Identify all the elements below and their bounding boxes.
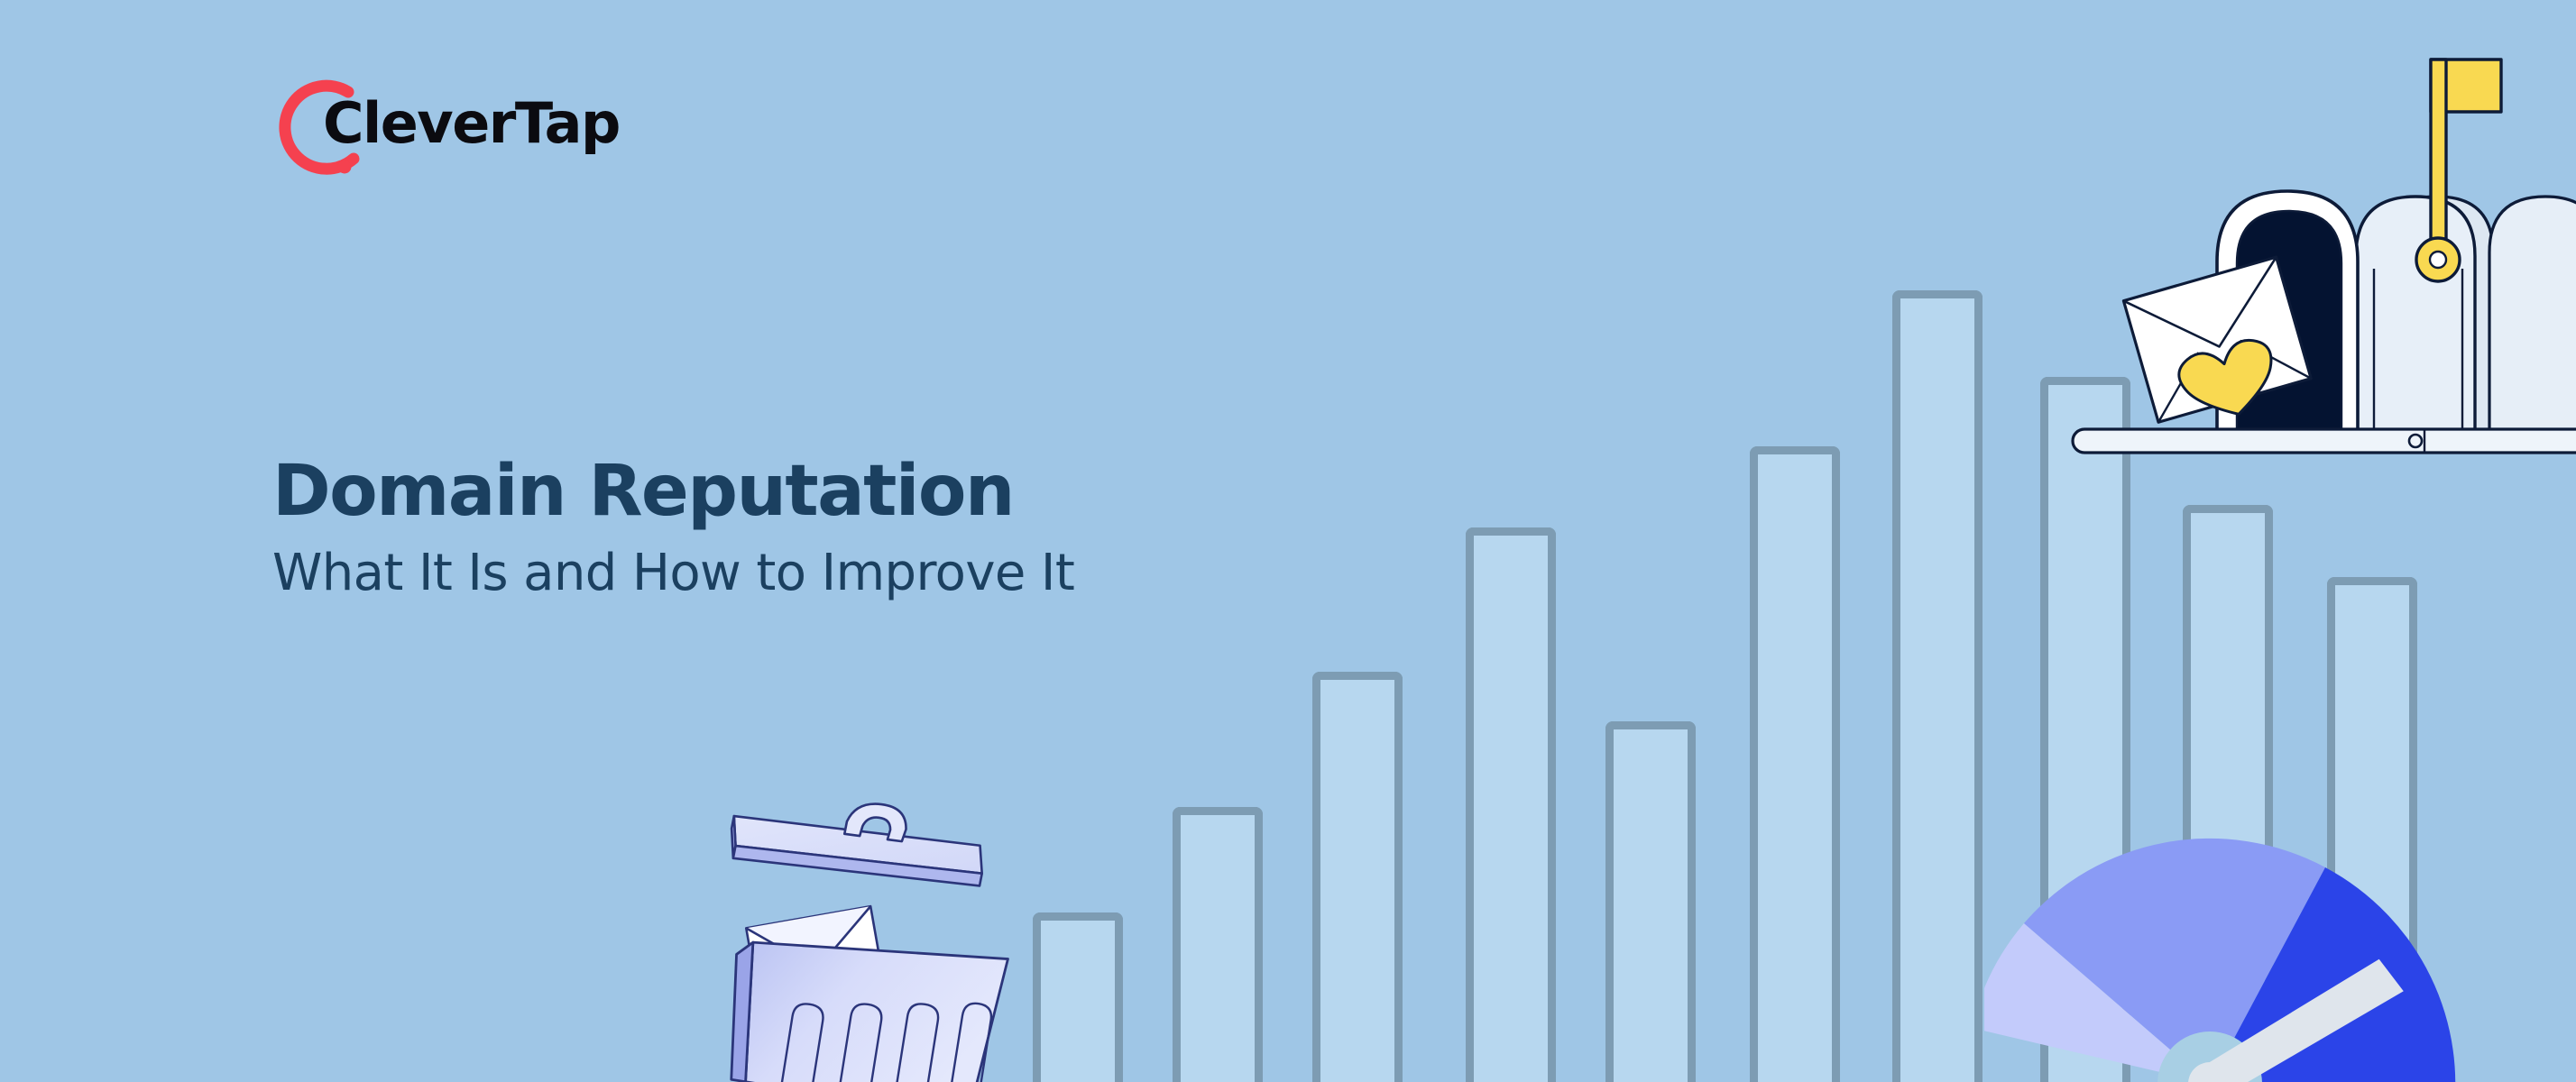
bar-7 bbox=[1892, 290, 1983, 1082]
page-subtitle: What It Is and How to Improve It bbox=[272, 546, 1445, 601]
trash-lid-icon bbox=[726, 802, 991, 905]
mailbox-shelf bbox=[2073, 429, 2576, 453]
bar-4 bbox=[1466, 527, 1556, 1082]
bar-2 bbox=[1173, 807, 1263, 1082]
mailbox-body bbox=[2356, 197, 2576, 440]
mailbox-illustration bbox=[2056, 43, 2576, 494]
brand-logo[interactable]: CleverTap bbox=[271, 79, 649, 179]
heading-block: Domain Reputation What It Is and How to … bbox=[272, 455, 1445, 601]
clevertap-dot-icon bbox=[338, 160, 352, 174]
page-title: Domain Reputation bbox=[272, 455, 1445, 529]
bar-3 bbox=[1312, 672, 1403, 1082]
mailbox-icon bbox=[2056, 43, 2576, 494]
reputation-gauge-icon bbox=[1984, 730, 2576, 1082]
banner: CleverTap Domain Reputation What It Is a… bbox=[0, 0, 2576, 1082]
brand-wordmark: CleverTap bbox=[323, 96, 620, 151]
trash-can-illustration bbox=[704, 802, 1028, 1082]
bar-1 bbox=[1033, 912, 1123, 1082]
bar-5 bbox=[1605, 721, 1696, 1082]
gauge-illustration bbox=[1984, 730, 2576, 1082]
trash-can-icon bbox=[704, 802, 1028, 1082]
bar-6 bbox=[1750, 446, 1840, 1082]
